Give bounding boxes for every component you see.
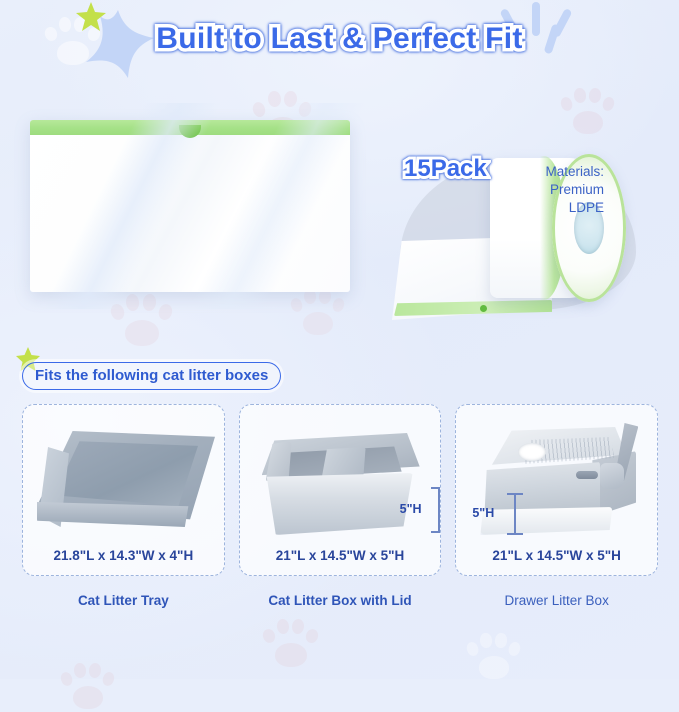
card-image-area-tray: 21.8"L x 14.3"W x 4"H (22, 404, 225, 576)
pack-count-badge: 15Pack (404, 155, 487, 183)
card-label: Cat Litter Tray (22, 593, 225, 608)
materials-line-2: Premium (498, 181, 604, 199)
bag-drawstring-tab (179, 125, 201, 138)
materials-info: Materials: Premium LDPE (498, 163, 604, 218)
box-body (264, 473, 416, 535)
height-marker-cap-top (507, 493, 523, 495)
cat-litter-tray-image (37, 431, 215, 535)
list-item: 5"H 21"L x 14.5"W x 5"H Drawer Litter Bo… (455, 404, 658, 608)
paw-print-decor (466, 630, 522, 682)
card-image-area-box-with-lid: 5"H 21"L x 14.5"W x 5"H (239, 404, 442, 576)
paw-print-decor (262, 616, 320, 670)
cat-litter-box-with-lid-image (262, 433, 420, 539)
drawer-bottom-tray (480, 507, 612, 535)
compatible-boxes-list: 21.8"L x 14.3"W x 4"H Cat Litter Tray 5"… (22, 404, 658, 608)
list-item: 21.8"L x 14.3"W x 4"H Cat Litter Tray (22, 404, 225, 608)
height-marker-cap-top (431, 487, 442, 489)
page-title-text: Built to Last & Perfect Fit (156, 22, 522, 56)
card-label: Cat Litter Box with Lid (239, 593, 442, 608)
height-marker-cap-bottom (507, 533, 523, 535)
card-image-area-drawer-box: 5"H 21"L x 14.5"W x 5"H (455, 404, 658, 576)
fits-banner: Fits the following cat litter boxes (22, 362, 281, 390)
drawer-handle (576, 471, 598, 479)
height-marker-label: 5"H (472, 506, 494, 520)
liner-sheet-tab-dot (480, 305, 487, 312)
card-dimensions: 21.8"L x 14.3"W x 4"H (23, 548, 224, 563)
height-marker-line (438, 487, 440, 533)
paw-print-decor (60, 660, 116, 712)
litter-liner-bag-image (30, 120, 350, 292)
height-marker-label: 5"H (400, 502, 422, 516)
paw-print-decor (110, 290, 174, 350)
materials-line-1: Materials: (498, 163, 604, 181)
litter-scoop-head-icon (600, 463, 624, 489)
paw-print-decor (560, 85, 616, 137)
card-label: Drawer Litter Box (455, 593, 658, 608)
materials-line-3: LDPE (498, 199, 604, 217)
height-marker-cap-bottom (431, 531, 442, 533)
paw-print-decor (290, 286, 346, 338)
drawer-litter-box-image (480, 427, 640, 547)
height-marker-line (514, 493, 516, 535)
list-item: 5"H 21"L x 14.5"W x 5"H Cat Litter Box w… (239, 404, 442, 608)
infographic-canvas: Built to Last & Perfect Fit 15Pack Mater… (0, 0, 679, 679)
card-dimensions: 21"L x 14.5"W x 5"H (240, 548, 441, 563)
page-title: Built to Last & Perfect Fit (0, 22, 679, 56)
card-dimensions: 21"L x 14.5"W x 5"H (456, 548, 657, 563)
